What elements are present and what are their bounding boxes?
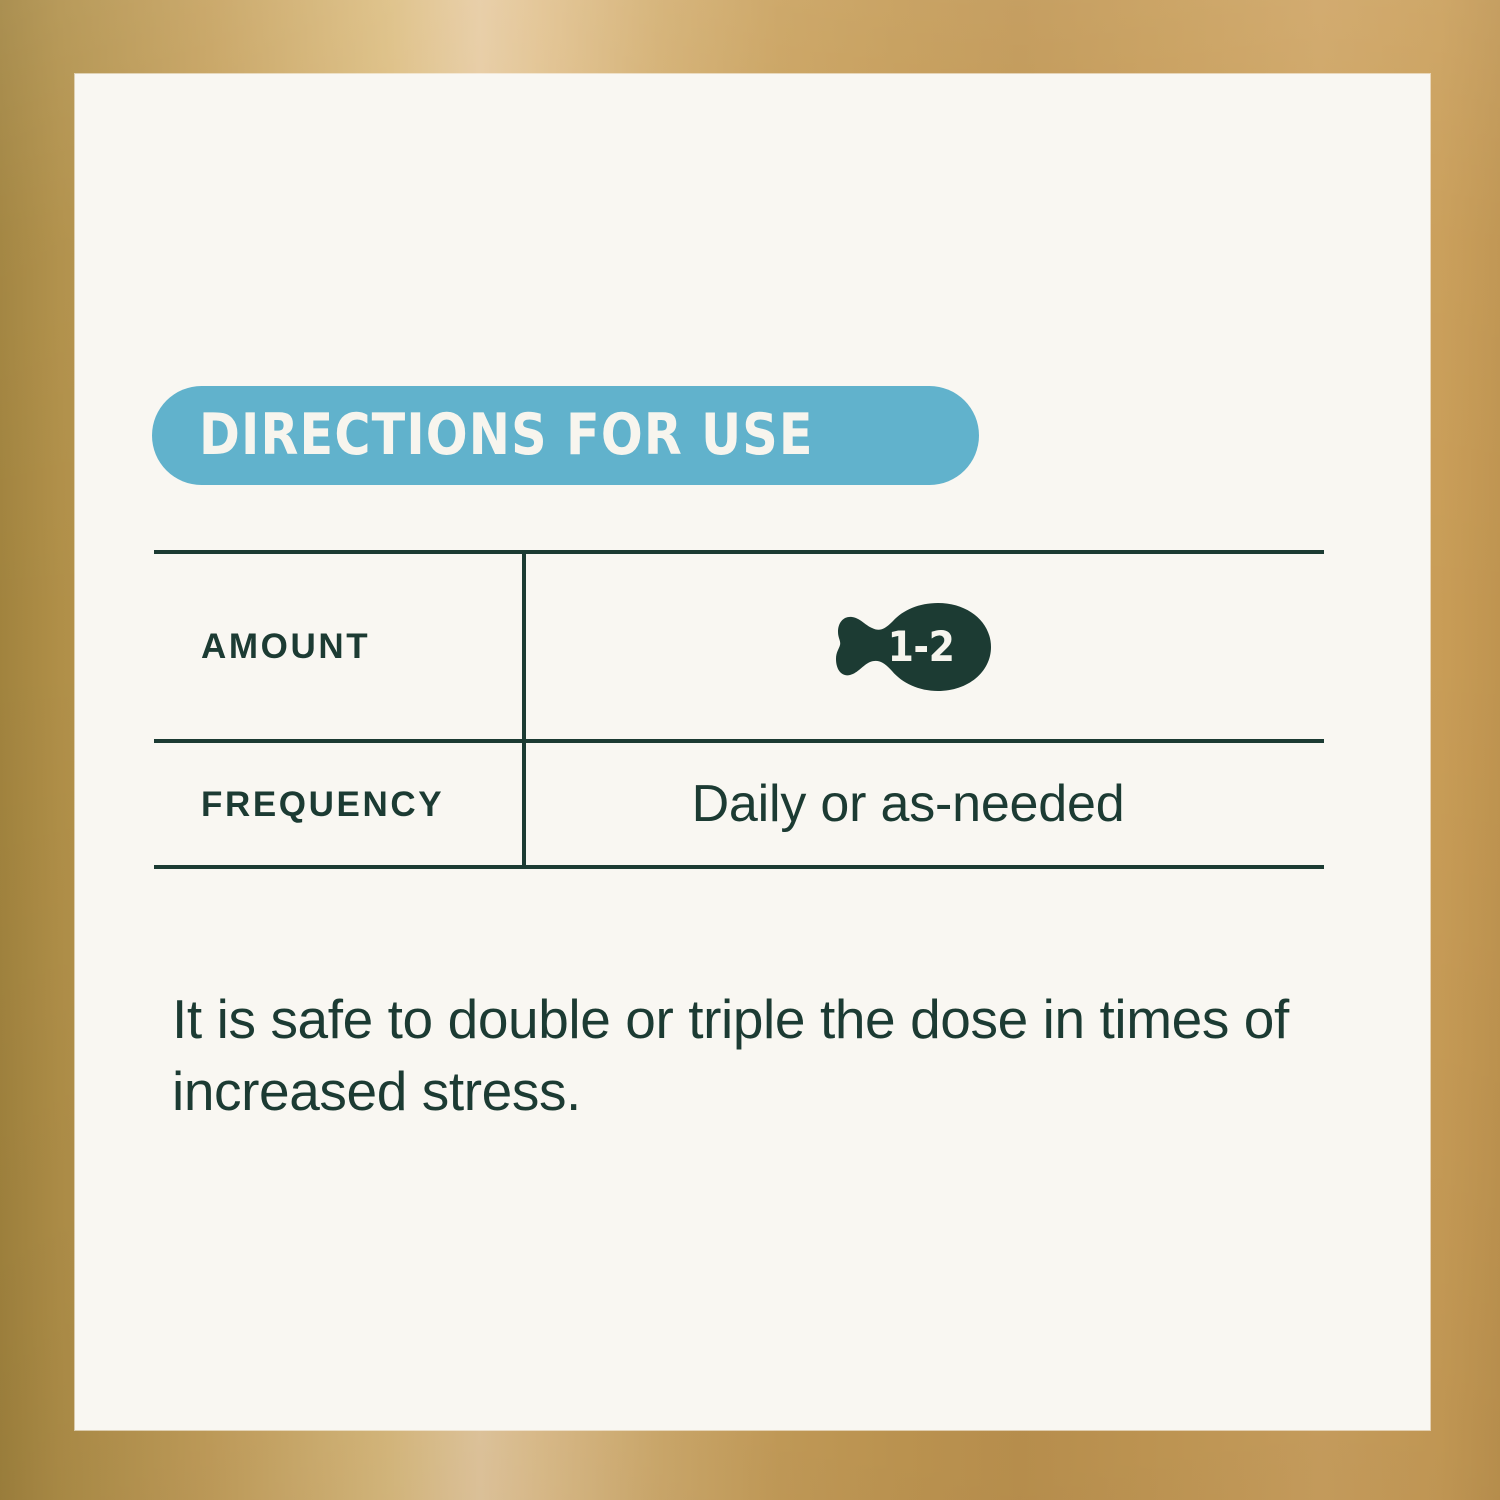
dog-treat-icon: 1-2 — [834, 601, 994, 693]
row-value-frequency: Daily or as-needed — [522, 778, 1324, 830]
amount-value-label: 1-2 — [888, 626, 955, 668]
table-row: FREQUENCY Daily or as-needed — [154, 743, 1324, 865]
dosage-footnote: It is safe to double or triple the dose … — [172, 984, 1317, 1127]
page-title: DIRECTIONS FOR USE — [199, 407, 814, 464]
directions-card: DIRECTIONS FOR USE AMOUNT 1-2 — [75, 74, 1430, 1430]
row-label-amount: AMOUNT — [154, 629, 522, 664]
product-panel-frame: DIRECTIONS FOR USE AMOUNT 1-2 — [0, 0, 1500, 1500]
directions-table: AMOUNT 1-2 FREQUENCY Daily or as-needed — [154, 550, 1324, 869]
table-row: AMOUNT 1-2 — [154, 554, 1324, 739]
row-label-frequency: FREQUENCY — [154, 787, 522, 822]
table-column-divider — [522, 743, 526, 865]
frequency-value-label: Daily or as-needed — [692, 778, 1125, 830]
row-value-amount: 1-2 — [522, 601, 1324, 693]
table-rule-bottom — [154, 865, 1324, 869]
directions-header-pill: DIRECTIONS FOR USE — [152, 386, 979, 485]
table-column-divider — [522, 554, 526, 739]
